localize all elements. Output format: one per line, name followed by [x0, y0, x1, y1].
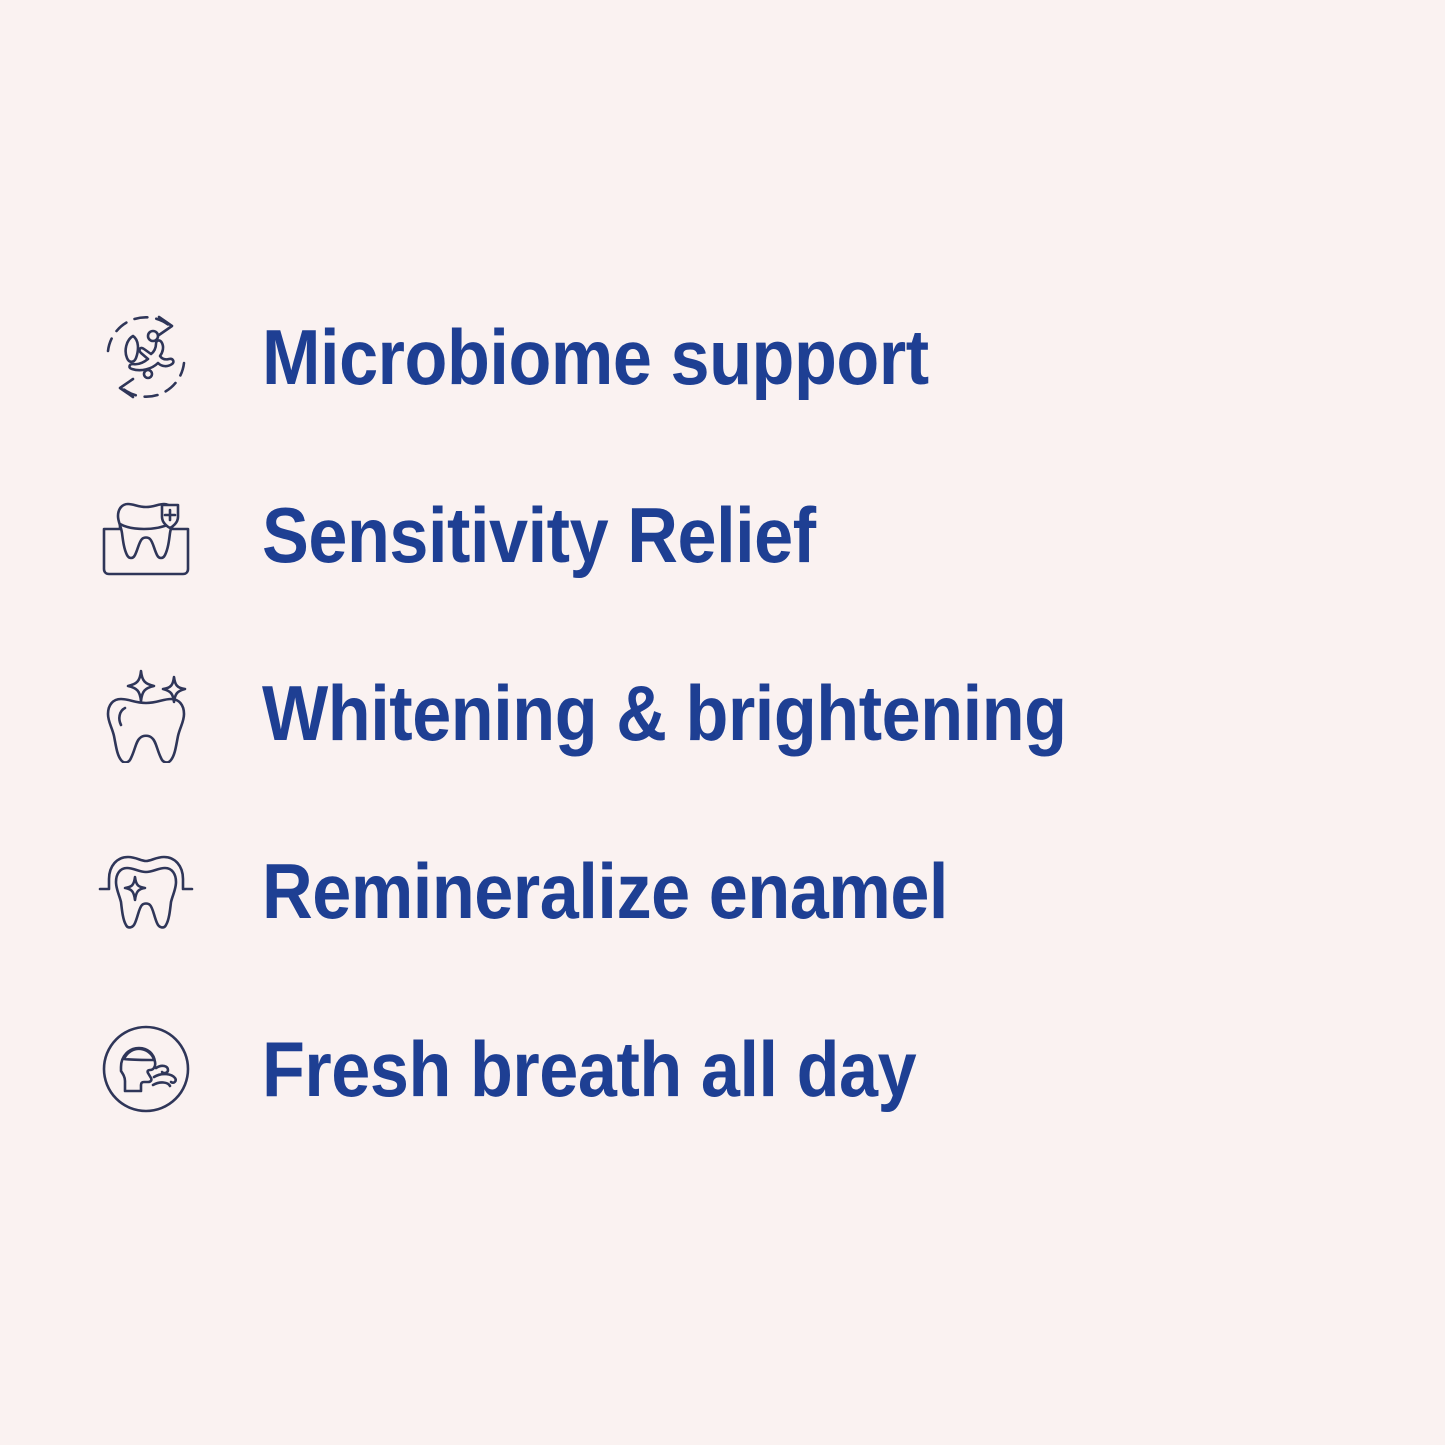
list-item: Remineralize enamel — [96, 802, 1356, 980]
list-item-label: Remineralize enamel — [262, 852, 948, 930]
microbiome-cycle-icon — [96, 303, 204, 411]
benefit-list: Microbiome support Sensitivity Relief — [96, 268, 1356, 1158]
list-item-label: Fresh breath all day — [262, 1030, 916, 1108]
list-item-label: Whitening & brightening — [262, 674, 1067, 752]
head-profile-fresh-breath-icon — [96, 1015, 204, 1123]
list-item-label: Sensitivity Relief — [262, 496, 816, 574]
list-item: Fresh breath all day — [96, 980, 1356, 1158]
tooth-gums-shield-plus-icon — [96, 481, 204, 589]
tooth-sparkles-icon — [96, 659, 204, 767]
tooth-enamel-shield-sparkle-icon — [96, 837, 204, 945]
list-item: Whitening & brightening — [96, 624, 1356, 802]
list-item: Sensitivity Relief — [96, 446, 1356, 624]
list-item: Microbiome support — [96, 268, 1356, 446]
benefits-graphic: Microbiome support Sensitivity Relief — [0, 0, 1445, 1445]
list-item-label: Microbiome support — [262, 318, 929, 396]
